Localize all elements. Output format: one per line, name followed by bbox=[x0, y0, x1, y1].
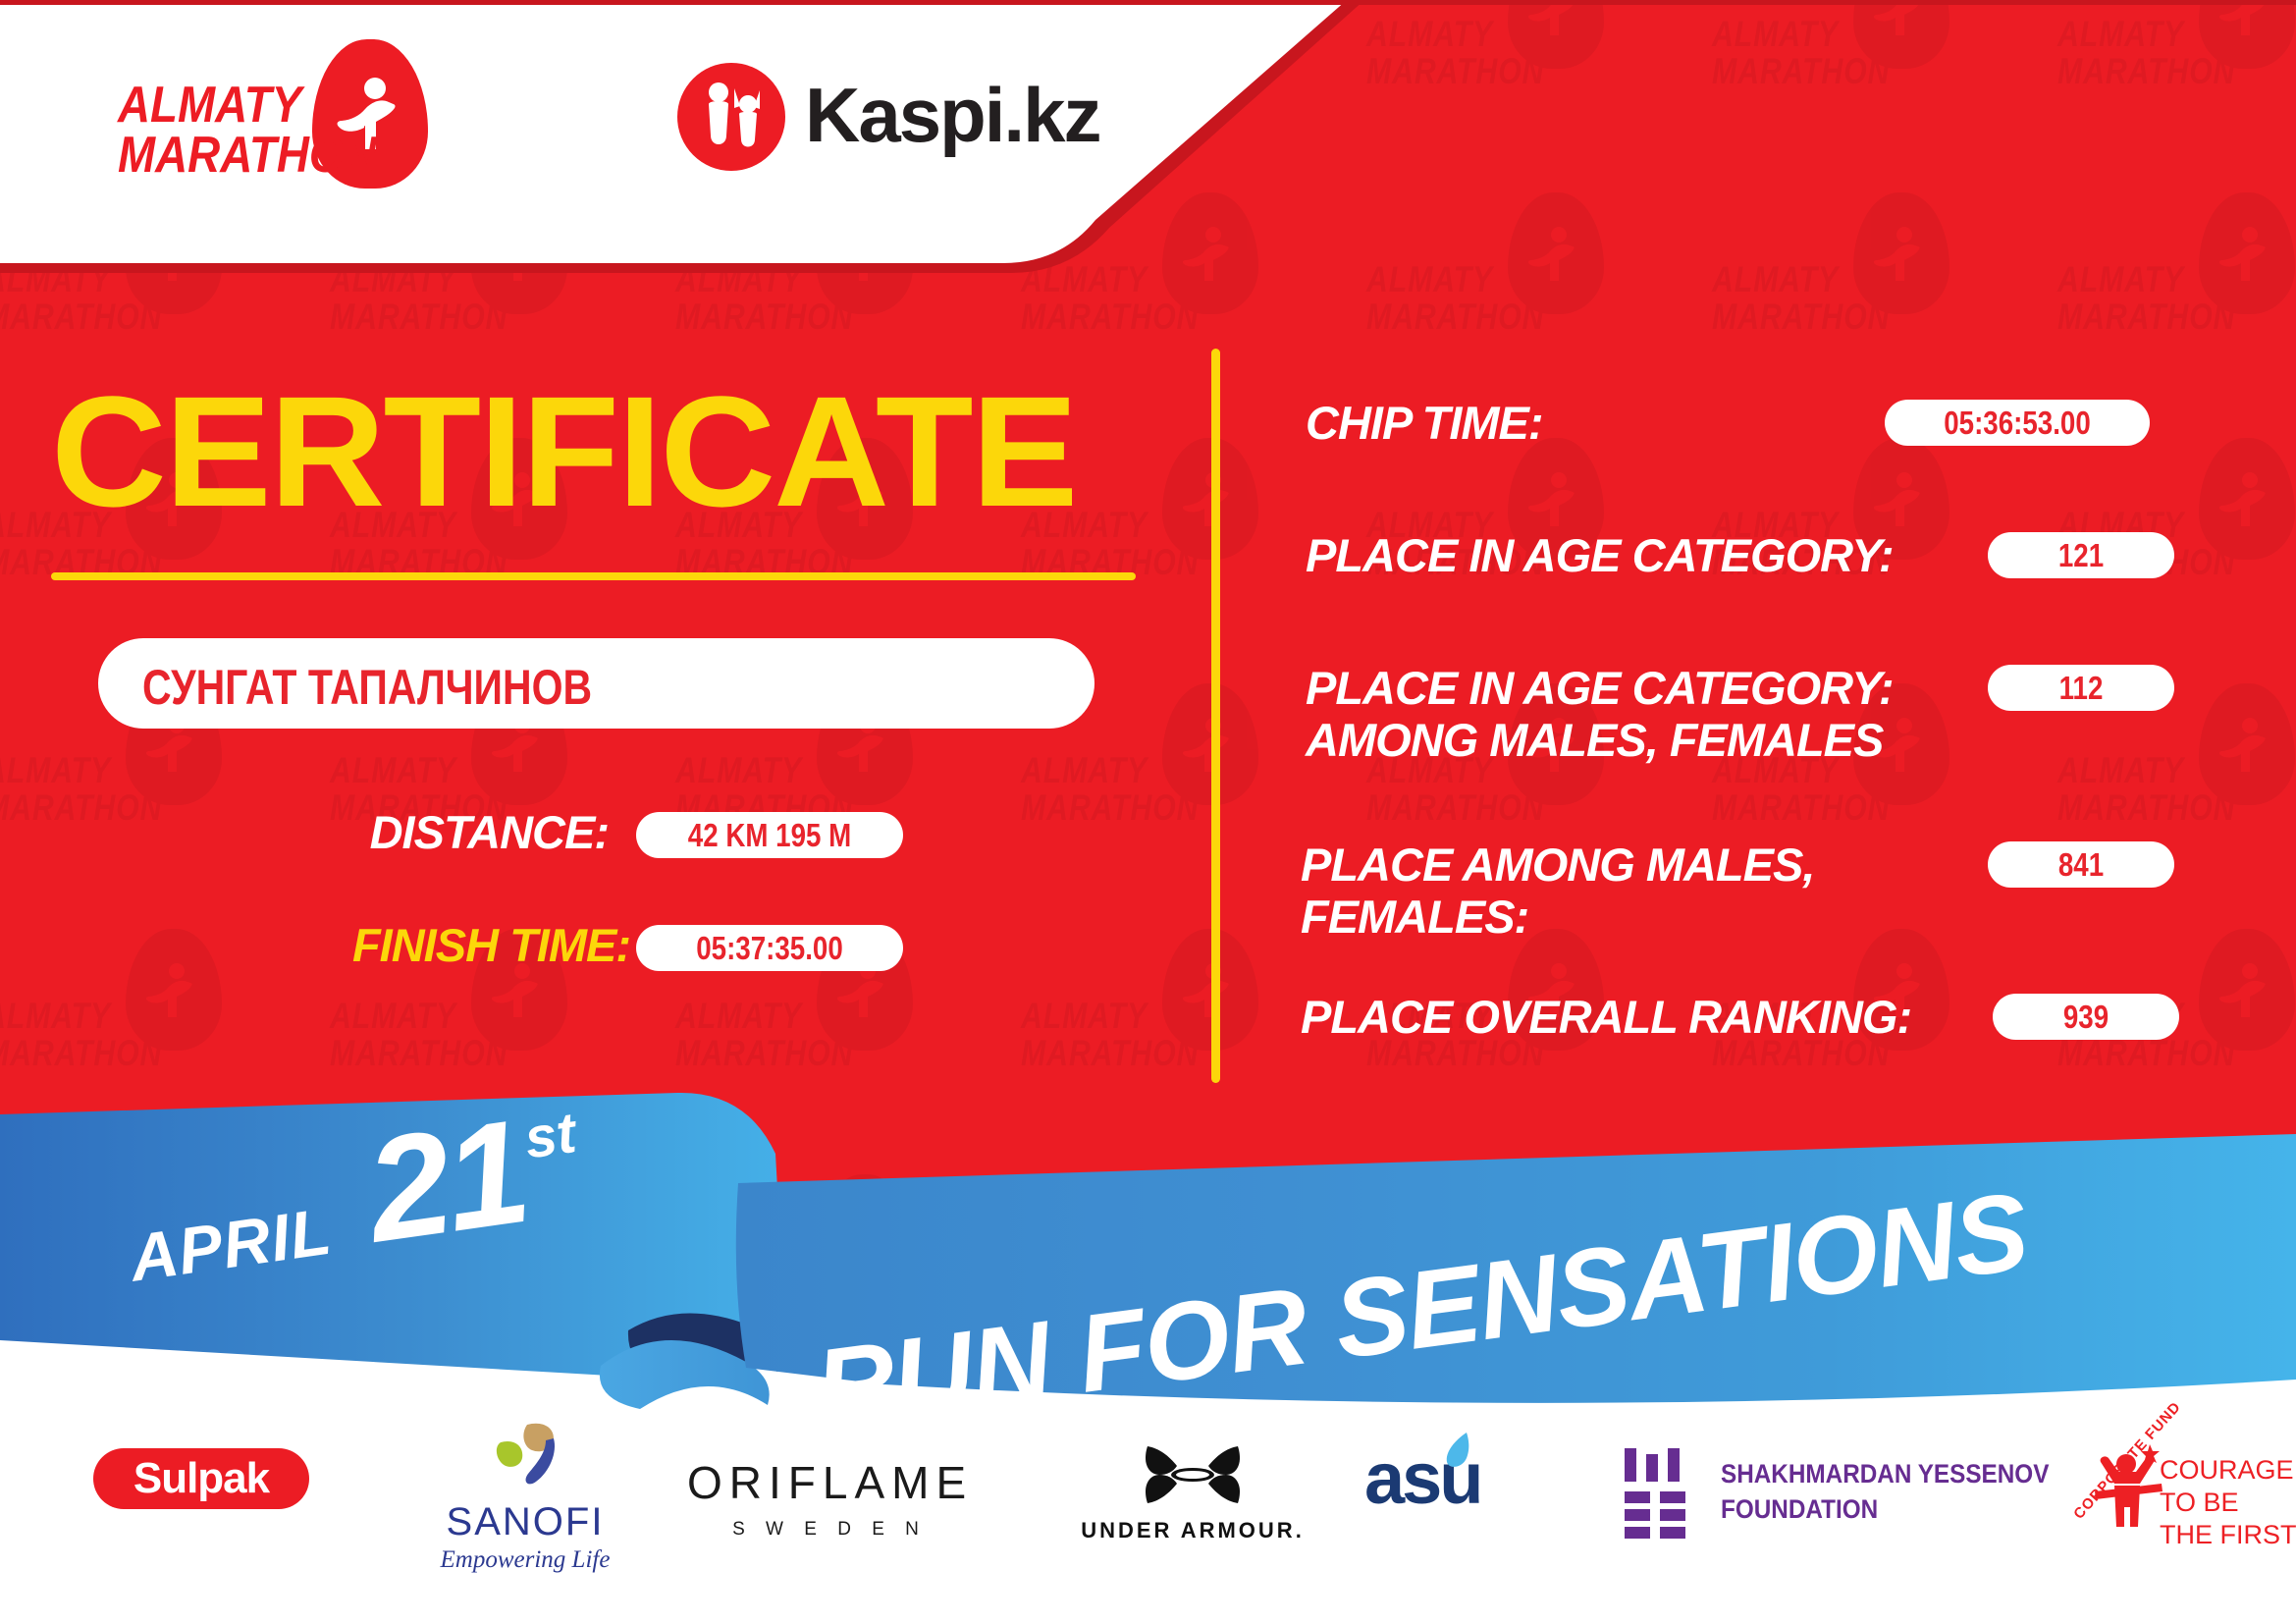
event-day: 21 bbox=[357, 1086, 535, 1275]
chip-time-label: CHIP TIME: bbox=[1306, 398, 1543, 450]
place-overall-value-pill: 939 bbox=[1993, 994, 2179, 1040]
place-age-category-gender-label-line2: AMONG MALES, FEMALES bbox=[1306, 715, 1894, 767]
distance-value: 42 KM 195 M bbox=[658, 817, 881, 854]
courage-line1: COURAGE bbox=[2160, 1454, 2296, 1487]
asu-droplet-icon bbox=[1441, 1431, 1474, 1470]
sulpak-wordmark: Sulpak bbox=[93, 1454, 309, 1503]
distance-label: DISTANCE: bbox=[370, 805, 609, 859]
top-red-rule bbox=[0, 0, 2296, 5]
finish-time-value: 05:37:35.00 bbox=[658, 930, 881, 967]
place-age-category-value: 121 bbox=[2002, 537, 2160, 574]
kaspi-logo: Kaspi.kz bbox=[677, 61, 1099, 179]
place-among-gender-label-line1: PLACE AMONG MALES, bbox=[1301, 839, 1814, 892]
courage-line3: THE FIRST! bbox=[2160, 1519, 2296, 1551]
oriflame-wordmark: ORIFLAME bbox=[687, 1456, 972, 1509]
kaspi-wordmark: Kaspi.kz bbox=[805, 71, 1099, 160]
almaty-marathon-wordmark: ALMATY MARATHON bbox=[118, 81, 377, 181]
place-among-gender-value-pill: 841 bbox=[1988, 841, 2174, 888]
place-age-category-label: PLACE IN AGE CATEGORY: bbox=[1306, 530, 1894, 582]
sponsor-bar: Sulpak SANOFI Empowering Life ORIFLAME S… bbox=[0, 1429, 2296, 1596]
chip-time-value-pill: 05:36:53.00 bbox=[1885, 400, 2150, 446]
marathon-line1: ALMATY bbox=[118, 81, 377, 131]
courage-figure-icon bbox=[2093, 1440, 2167, 1531]
place-age-category-gender-value-pill: 112 bbox=[1988, 665, 2174, 711]
place-overall-value: 939 bbox=[2007, 999, 2164, 1036]
place-age-category-gender-value: 112 bbox=[2002, 670, 2160, 707]
sponsor-sanofi: SANOFI Empowering Life bbox=[412, 1421, 638, 1574]
courage-wordmark: COURAGE TO BE THE FIRST! bbox=[2160, 1454, 2296, 1551]
kaspi-people-icon bbox=[691, 75, 775, 159]
yessenov-line2: FOUNDATION bbox=[1721, 1491, 2049, 1527]
certificate-canvas: ALMATYMARATHONALMATYMARATHONALMATYMARATH… bbox=[0, 0, 2296, 1624]
yessenov-line1: SHAKHMARDAN YESSENOV bbox=[1721, 1456, 2049, 1491]
column-divider bbox=[1211, 349, 1220, 1083]
oriflame-subtitle: S W E D E N bbox=[687, 1519, 972, 1541]
sanofi-wordmark: SANOFI bbox=[412, 1500, 638, 1544]
yessenov-wordmark: SHAKHMARDAN YESSENOV FOUNDATION bbox=[1721, 1456, 2049, 1528]
place-age-category-gender-label: PLACE IN AGE CATEGORY: AMONG MALES, FEMA… bbox=[1306, 663, 1894, 766]
sponsor-oriflame: ORIFLAME S W E D E N bbox=[687, 1456, 972, 1541]
under-armour-wordmark: UNDER ARMOUR. bbox=[1075, 1518, 1310, 1543]
sulpak-logo: Sulpak bbox=[93, 1448, 309, 1509]
place-age-category-gender-label-line1: PLACE IN AGE CATEGORY: bbox=[1306, 663, 1894, 715]
place-age-category-value-pill: 121 bbox=[1988, 532, 2174, 578]
sponsor-under-armour: UNDER ARMOUR. bbox=[1075, 1442, 1310, 1543]
event-day-suffix: st bbox=[520, 1100, 579, 1172]
sanofi-bird-icon bbox=[481, 1421, 569, 1491]
place-among-gender-value: 841 bbox=[2002, 846, 2160, 884]
runner-name-value: СУНГАТ ТАПАЛЧИНОВ bbox=[142, 659, 592, 716]
place-overall-label: PLACE OVERALL RANKING: bbox=[1301, 992, 1911, 1044]
distance-value-pill: 42 KM 195 M bbox=[636, 812, 903, 858]
courage-line2: TO BE bbox=[2160, 1487, 2296, 1519]
place-among-gender-label: PLACE AMONG MALES, FEMALES: bbox=[1301, 839, 1814, 943]
yessenov-bars-icon bbox=[1621, 1448, 1701, 1543]
sponsor-asu: asu bbox=[1364, 1436, 1561, 1520]
marathon-line2: MARATHON bbox=[118, 131, 377, 181]
place-among-gender-label-line2: FEMALES: bbox=[1301, 892, 1814, 944]
finish-time-label: FINISH TIME: bbox=[352, 918, 630, 972]
sanofi-tagline: Empowering Life bbox=[412, 1546, 638, 1574]
title-underline bbox=[51, 572, 1136, 580]
chip-time-value: 05:36:53.00 bbox=[1906, 405, 2129, 442]
page-title: CERTIFICATE bbox=[51, 373, 1076, 530]
almaty-marathon-logo: ALMATY MARATHON bbox=[118, 61, 442, 198]
under-armour-icon bbox=[1134, 1442, 1252, 1507]
finish-time-value-pill: 05:37:35.00 bbox=[636, 925, 903, 971]
sponsor-sulpak: Sulpak bbox=[93, 1448, 309, 1509]
